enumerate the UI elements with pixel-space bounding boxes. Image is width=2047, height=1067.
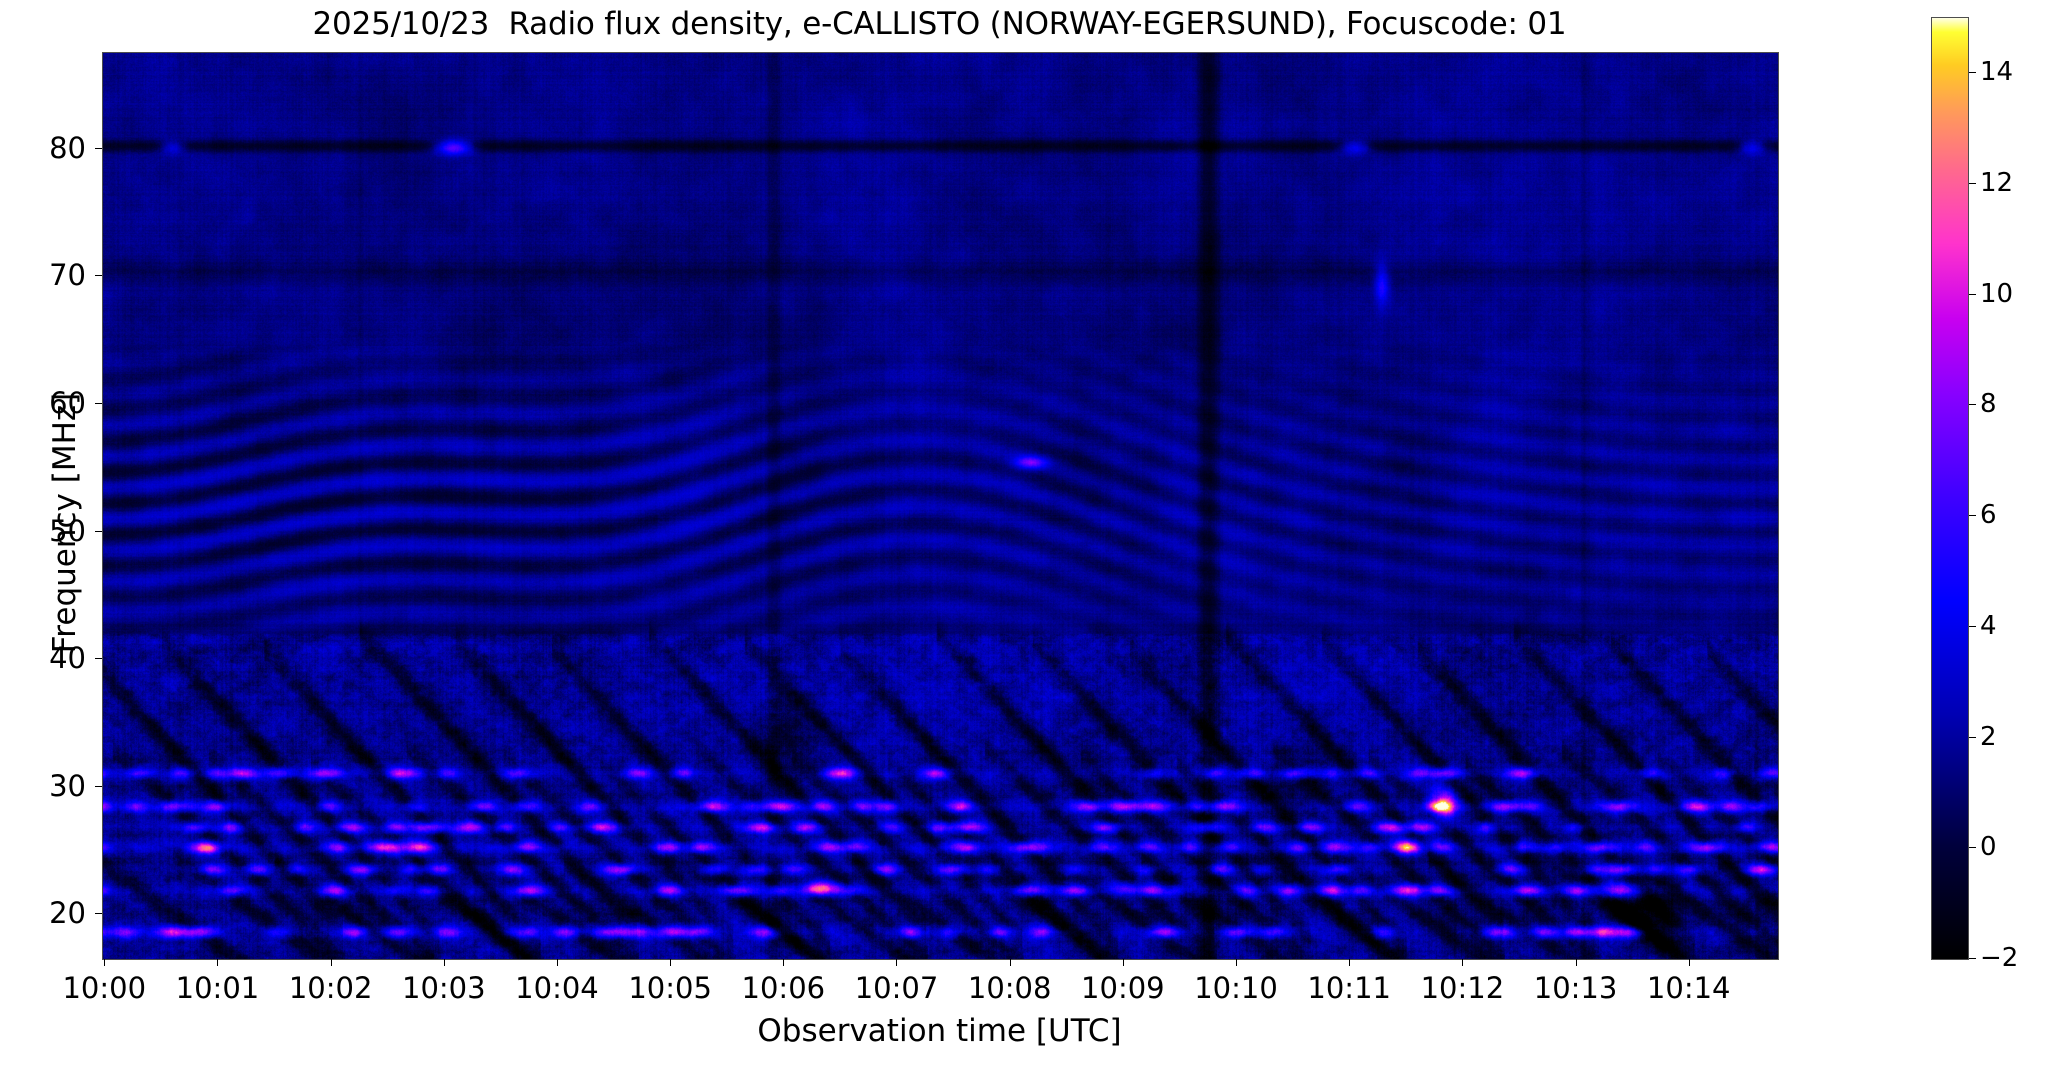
colorbar-tick-label: 2 xyxy=(1980,722,1997,752)
y-tick-label: 30 xyxy=(0,769,86,803)
colorbar-tick-mark xyxy=(1969,404,1976,405)
x-tick-mark xyxy=(331,959,332,966)
colorbar-tick-label: 8 xyxy=(1980,389,1997,419)
x-tick-mark xyxy=(104,959,105,966)
x-axis-label: Observation time [UTC] xyxy=(102,1013,1777,1049)
x-tick-label: 10:05 xyxy=(628,971,712,1005)
x-tick-label: 10:04 xyxy=(515,971,599,1005)
x-tick-label: 10:08 xyxy=(968,971,1052,1005)
x-tick-mark xyxy=(1576,959,1577,966)
x-tick-label: 10:01 xyxy=(176,971,260,1005)
colorbar-gradient xyxy=(1932,18,1968,959)
x-tick-mark xyxy=(1349,959,1350,966)
colorbar-tick-mark xyxy=(1969,847,1976,848)
y-tick-mark xyxy=(95,913,102,914)
colorbar-tick-mark xyxy=(1969,72,1976,73)
x-tick-mark xyxy=(1462,959,1463,966)
x-tick-label: 10:14 xyxy=(1647,971,1731,1005)
x-tick-label: 10:06 xyxy=(742,971,826,1005)
x-tick-mark xyxy=(783,959,784,966)
y-tick-label: 20 xyxy=(0,896,86,930)
colorbar-tick-mark xyxy=(1969,183,1976,184)
colorbar-tick-label: 6 xyxy=(1980,500,1997,530)
x-tick-label: 10:00 xyxy=(62,971,146,1005)
x-tick-mark xyxy=(444,959,445,966)
x-tick-label: 10:10 xyxy=(1194,971,1278,1005)
y-tick-mark xyxy=(95,275,102,276)
colorbar-tick-label: 4 xyxy=(1980,611,1997,641)
x-tick-mark xyxy=(896,959,897,966)
colorbar-tick-label: 12 xyxy=(1980,168,2013,198)
colorbar-tick-mark xyxy=(1969,515,1976,516)
colorbar[interactable] xyxy=(1931,17,1969,960)
colorbar-tick-label: 14 xyxy=(1980,57,2013,87)
x-tick-mark xyxy=(217,959,218,966)
y-tick-label: 70 xyxy=(0,258,86,292)
y-tick-label: 80 xyxy=(0,131,86,165)
x-tick-mark xyxy=(557,959,558,966)
colorbar-tick-mark xyxy=(1969,294,1976,295)
y-tick-mark xyxy=(95,403,102,404)
colorbar-tick-label: 10 xyxy=(1980,279,2013,309)
x-tick-label: 10:07 xyxy=(855,971,939,1005)
y-tick-mark xyxy=(95,148,102,149)
colorbar-tick-label: 0 xyxy=(1980,832,1997,862)
x-tick-mark xyxy=(670,959,671,966)
y-axis-label: Frequency [MHz] xyxy=(47,323,83,723)
spectrogram-image[interactable] xyxy=(103,53,1778,959)
x-tick-label: 10:13 xyxy=(1534,971,1618,1005)
x-tick-mark xyxy=(1689,959,1690,966)
y-tick-mark xyxy=(95,658,102,659)
x-tick-label: 10:09 xyxy=(1081,971,1165,1005)
spectrogram-plot-area[interactable] xyxy=(102,52,1779,960)
x-tick-mark xyxy=(1236,959,1237,966)
x-tick-label: 10:11 xyxy=(1307,971,1391,1005)
y-tick-mark xyxy=(95,786,102,787)
x-tick-label: 10:03 xyxy=(402,971,486,1005)
x-tick-mark xyxy=(1123,959,1124,966)
colorbar-tick-mark xyxy=(1969,626,1976,627)
colorbar-tick-mark xyxy=(1969,958,1976,959)
x-tick-label: 10:02 xyxy=(289,971,373,1005)
x-tick-label: 10:12 xyxy=(1421,971,1505,1005)
y-tick-mark xyxy=(95,531,102,532)
colorbar-tick-mark xyxy=(1969,737,1976,738)
colorbar-tick-label: −2 xyxy=(1980,943,2018,973)
page-title: 2025/10/23 Radio flux density, e-CALLIST… xyxy=(102,6,1777,42)
x-tick-mark xyxy=(1010,959,1011,966)
